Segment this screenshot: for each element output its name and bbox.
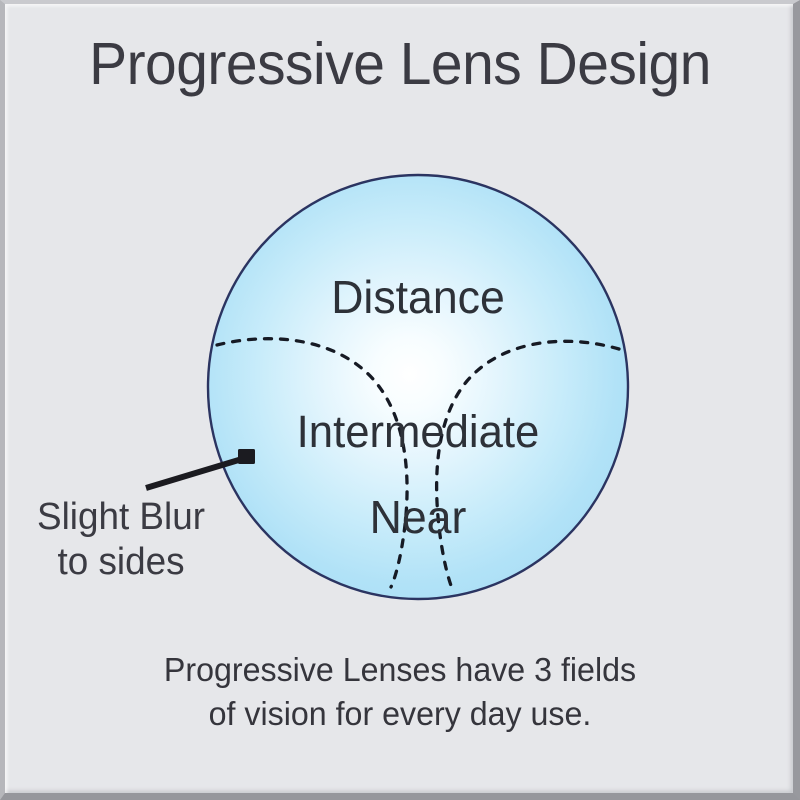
caption-line-1: Progressive Lenses have 3 fields: [98, 648, 703, 692]
page-title: Progressive Lens Design: [14, 30, 786, 98]
blur-annotation-line2: to sides: [9, 540, 232, 585]
zone-label-near: Near: [211, 491, 624, 543]
caption-line-2: of vision for every day use.: [98, 692, 703, 736]
figure-frame: Progressive Lens Design: [0, 0, 800, 800]
figure-canvas: Progressive Lens Design: [0, 0, 800, 800]
blur-annotation-line1: Slight Blur: [9, 495, 232, 540]
zone-label-distance: Distance: [211, 271, 624, 323]
blur-annotation: Slight Blur to sides: [9, 495, 232, 585]
figure-caption: Progressive Lenses have 3 fields of visi…: [98, 648, 703, 736]
